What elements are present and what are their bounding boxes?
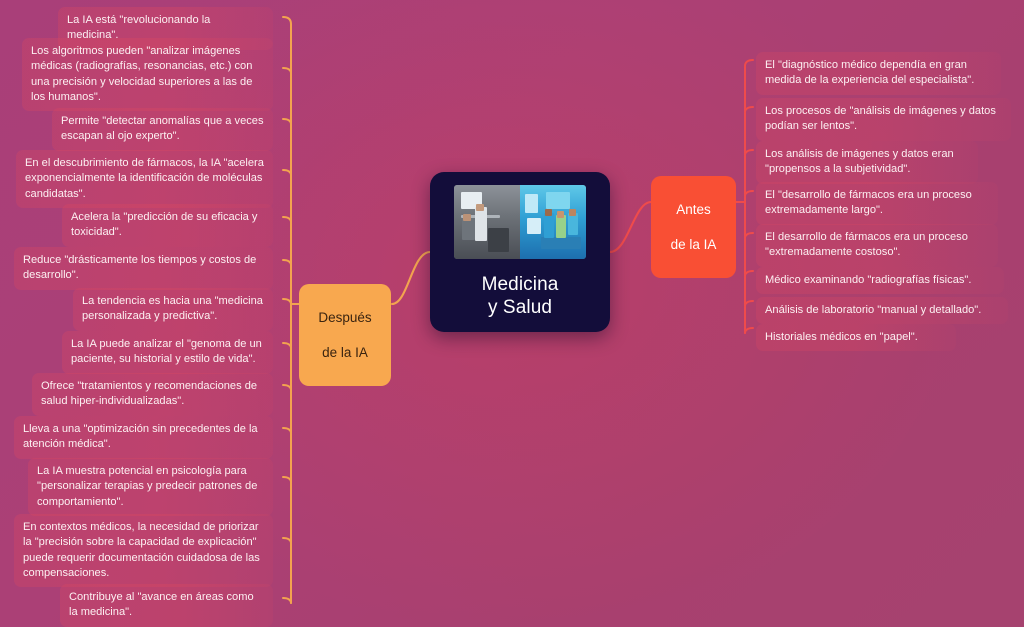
leaf-antes-3[interactable]: Los análisis de imágenes y datos eran "p… [756,141,978,184]
central-title-line-2: y Salud [482,296,559,319]
leaf-despues-4[interactable]: En el descubrimiento de fármacos, la IA … [16,150,273,208]
leaf-antes-6[interactable]: Médico examinando "radiografías físicas"… [756,267,1004,294]
leaf-antes-1[interactable]: El "diagnóstico médico dependía en gran … [756,52,1001,95]
central-node-image [454,185,586,259]
leaf-antes-8[interactable]: Historiales médicos en "papel". [756,324,956,351]
leaf-antes-5[interactable]: El desarrollo de fármacos era un proceso… [756,224,998,267]
mindmap-canvas: Medicina y Salud Antes de la IA Después … [0,0,1024,627]
leaf-despues-6[interactable]: Reduce "drásticamente los tiempos y cost… [14,247,273,290]
leaf-despues-7[interactable]: La tendencia es hacia una "medicina pers… [73,288,273,331]
leaf-despues-3[interactable]: Permite "detectar anomalías que a veces … [52,108,273,151]
branch-label-antes[interactable]: Antes de la IA [651,176,736,278]
branch-despues-line-1: Después [311,309,379,326]
leaf-despues-13[interactable]: Contribuye al "avance en áreas como la m… [60,584,273,627]
leaf-despues-9[interactable]: Ofrece "tratamientos y recomendaciones d… [32,373,273,416]
leaf-despues-10[interactable]: Lleva a una "optimización sin precedente… [14,416,273,459]
leaf-despues-12[interactable]: En contextos médicos, la necesidad de pr… [14,514,273,587]
branch-label-despues[interactable]: Después de la IA [299,284,391,386]
leaf-antes-2[interactable]: Los procesos de "análisis de imágenes y … [756,98,1011,141]
branch-despues-line-2: de la IA [311,344,379,361]
branch-antes-line-1: Antes [663,201,724,218]
central-title-line-1: Medicina [482,273,559,296]
branch-antes-line-2: de la IA [663,236,724,253]
central-node-title: Medicina y Salud [482,273,559,319]
leaf-despues-2[interactable]: Los algoritmos pueden "analizar imágenes… [22,38,273,111]
leaf-despues-8[interactable]: La IA puede analizar el "genoma de un pa… [62,331,273,374]
leaf-despues-11[interactable]: La IA muestra potencial en psicología pa… [28,458,273,516]
leaf-antes-4[interactable]: El "desarrollo de fármacos era un proces… [756,182,998,225]
leaf-antes-7[interactable]: Análisis de laboratorio "manual y detall… [756,297,1008,324]
central-node[interactable]: Medicina y Salud [430,172,610,332]
leaf-despues-5[interactable]: Acelera la "predicción de su eficacia y … [62,204,273,247]
